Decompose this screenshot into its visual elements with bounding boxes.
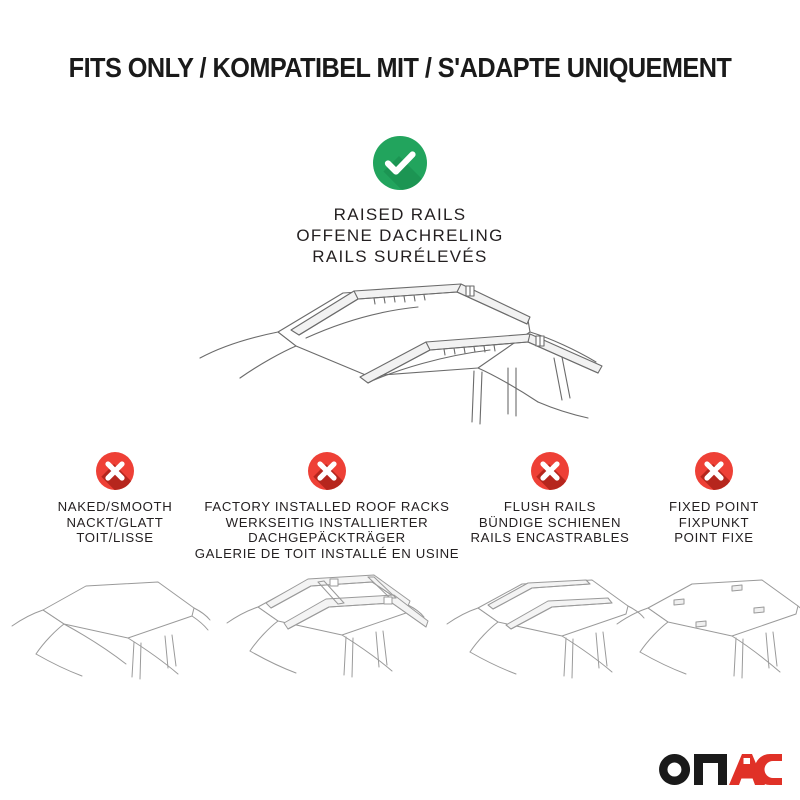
incompatible-section: NAKED/SMOOTH NACKT/GLATT TOIT/LISSE	[0, 452, 800, 702]
x-glyph	[96, 452, 134, 490]
car-roof-factory-rack-illustration	[218, 557, 433, 692]
incompatible-factory-label-en: FACTORY INSTALLED ROOF RACKS	[180, 499, 474, 515]
incompatible-fixed-label-en: FIXED POINT	[628, 499, 800, 515]
compatible-label-de: OFFENE DACHRELING	[200, 225, 600, 246]
page-title: FITS ONLY / KOMPATIBEL MIT / S'ADAPTE UN…	[32, 52, 768, 84]
x-glyph	[531, 452, 569, 490]
incompatible-fixed-label-de: FIXPUNKT	[628, 515, 800, 531]
x-circle-icon	[695, 452, 733, 490]
incompatible-fixed-label-fr: POINT FIXE	[628, 530, 800, 546]
naked-roof-drawing	[8, 562, 213, 687]
incompatible-flush-label-en: FLUSH RAILS	[447, 499, 653, 515]
compatible-section: RAISED RAILS OFFENE DACHRELING RAILS SUR…	[200, 136, 600, 267]
compatible-label-fr: RAILS SURÉLEVÉS	[200, 246, 600, 267]
car-roof-naked-illustration	[8, 562, 213, 692]
check-circle-icon	[373, 136, 427, 190]
incompatible-flush-label-de: BÜNDIGE SCHIENEN	[447, 515, 653, 531]
x-glyph	[308, 452, 346, 490]
raised-rails-drawing	[178, 272, 628, 437]
incompatible-flush-label-fr: RAILS ENCASTRABLES	[447, 530, 653, 546]
omac-logo-mark	[657, 750, 782, 790]
incompatible-labels-flush-rails: FLUSH RAILS BÜNDIGE SCHIENEN RAILS ENCAS…	[447, 499, 653, 546]
incompatible-labels-fixed-point: FIXED POINT FIXPUNKT POINT FIXE	[628, 499, 800, 546]
car-roof-raised-rails-illustration	[178, 272, 628, 437]
logo-letter-o	[659, 754, 690, 785]
x-circle-icon	[308, 452, 346, 490]
fixed-point-drawing	[614, 560, 800, 688]
check-glyph	[373, 136, 427, 190]
incompatible-item-fixed-point: FIXED POINT FIXPUNKT POINT FIXE	[628, 452, 800, 546]
x-circle-icon	[531, 452, 569, 490]
factory-rack-drawing	[218, 557, 433, 687]
logo-letter-a-dot	[744, 758, 751, 764]
compatible-labels: RAISED RAILS OFFENE DACHRELING RAILS SUR…	[200, 204, 600, 267]
omac-logo	[657, 750, 782, 790]
x-glyph	[695, 452, 733, 490]
incompatible-factory-label-de2: DACHGEPÄCKTRÄGER	[180, 530, 474, 546]
x-circle-icon	[96, 452, 134, 490]
incompatible-labels-factory-rack: FACTORY INSTALLED ROOF RACKS WERKSEITIG …	[180, 499, 474, 561]
compatible-label-en: RAISED RAILS	[200, 204, 600, 225]
incompatible-item-factory-rack: FACTORY INSTALLED ROOF RACKS WERKSEITIG …	[180, 452, 474, 561]
car-roof-fixed-point-illustration	[614, 560, 800, 693]
incompatible-factory-label-de1: WERKSEITIG INSTALLIERTER	[180, 515, 474, 531]
incompatible-item-flush-rails: FLUSH RAILS BÜNDIGE SCHIENEN RAILS ENCAS…	[447, 452, 653, 546]
